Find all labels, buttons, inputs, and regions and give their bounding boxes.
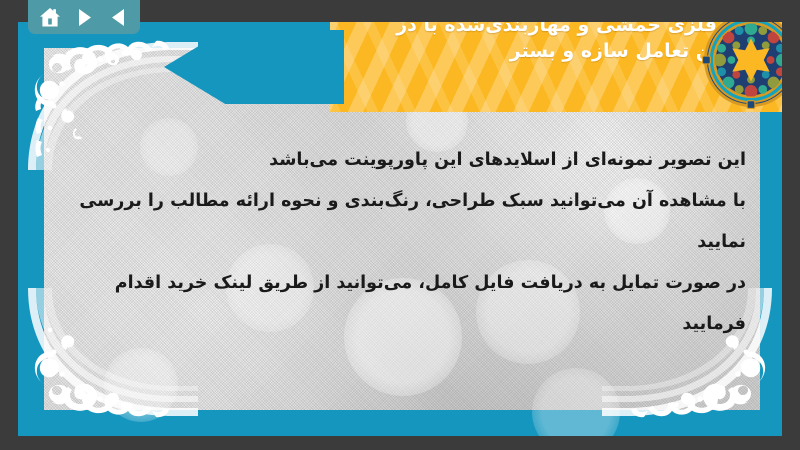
persian-medallion-icon: [702, 22, 782, 109]
slide-body-line: در صورت تمایل به دریافت فایل کامل، می‌تو…: [58, 263, 746, 345]
presentation-slide: تحلیل تأثیر دیوارهای پرکننده بر دوره تنا…: [18, 22, 782, 436]
triangle-right-icon: [76, 8, 93, 27]
slide-viewer: تحلیل تأثیر دیوارهای پرکننده بر دوره تنا…: [0, 0, 800, 450]
next-slide-button[interactable]: [69, 4, 99, 30]
home-button[interactable]: [35, 4, 65, 30]
bokeh-circle: [104, 348, 178, 422]
previous-slide-button[interactable]: [103, 4, 133, 30]
slide-body-text: این تصویر نمونه‌ای از اسلایدهای این پاور…: [58, 140, 746, 345]
bokeh-circle: [532, 368, 620, 436]
home-icon: [39, 7, 61, 28]
triangle-left-icon: [110, 8, 127, 27]
slide-title-banner: تحلیل تأثیر دیوارهای پرکننده بر دوره تنا…: [164, 22, 782, 112]
slide-body-line: با مشاهده آن می‌توانید سبک طراحی، رنگ‌بن…: [58, 181, 746, 263]
slide-body-line: این تصویر نمونه‌ای از اسلایدهای این پاور…: [58, 140, 746, 181]
navigation-toolbar: [28, 0, 140, 34]
